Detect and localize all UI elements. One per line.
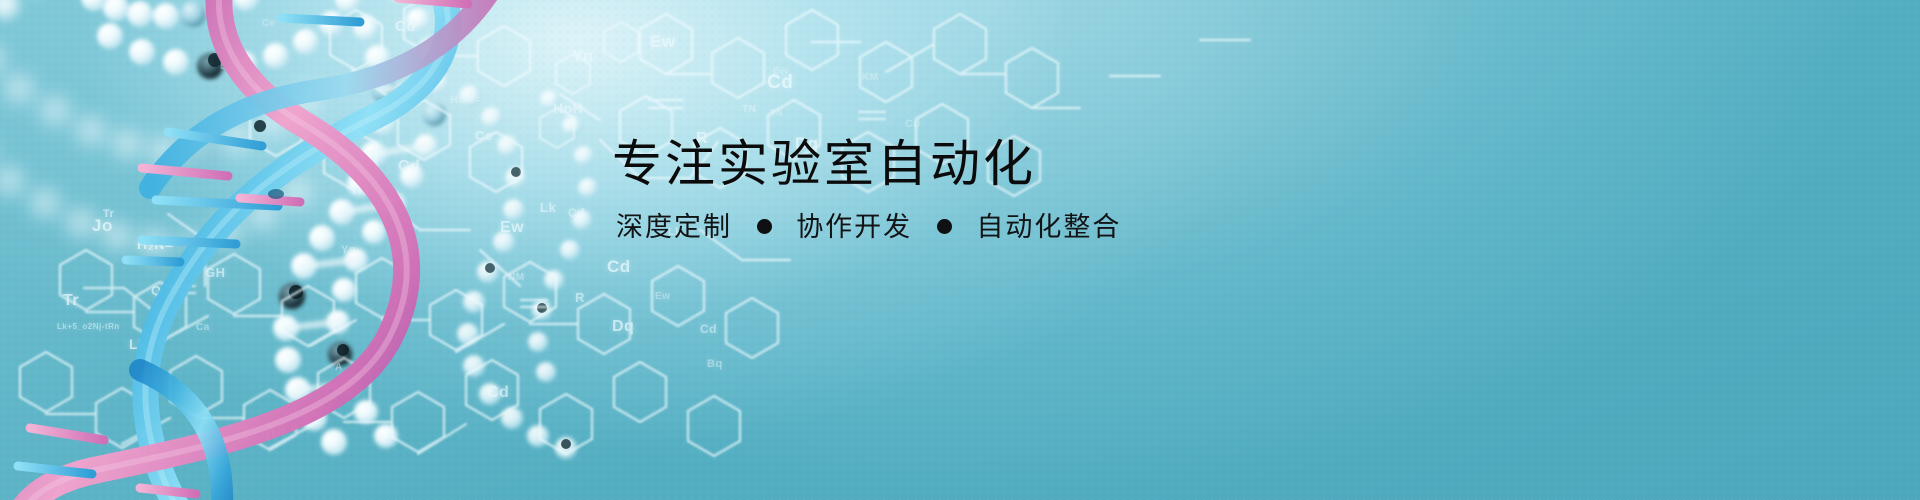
page-title: 专注实验室自动化 [612, 138, 1332, 191]
subtitle-item-3: 自动化整合 [976, 212, 1121, 243]
chem-formula-label: Cd [700, 322, 717, 336]
chem-formula-label: NM [508, 272, 525, 283]
chem-formula-label: Q [151, 283, 162, 298]
chem-formula-label: Bq [707, 358, 723, 370]
chem-formula-label: Cd [487, 384, 509, 402]
banner-copy: 专注实验室自动化 深度定制 协作开发 自动化整合 [612, 138, 1332, 243]
bullet-separator-icon [757, 219, 772, 234]
bullet-separator-icon [937, 219, 952, 234]
chem-formula-label: GH [205, 265, 226, 280]
chem-formula-label: Jo [92, 216, 113, 236]
chem-formula-label: Cd [905, 118, 921, 130]
chem-formula-label: Yn [350, 183, 366, 197]
chem-formula-label: Tr [103, 208, 114, 220]
chem-formula-label: Lk [220, 60, 234, 72]
chem-formula-label: Ew [773, 66, 788, 77]
chem-formula-label: Lk [129, 336, 146, 352]
ribbon-dna-graphic: 5MM [0, 0, 520, 500]
chem-formula-label: Ce [475, 128, 493, 143]
chem-formula-label: Ew [500, 219, 524, 237]
chem-formula-label: Cd [398, 158, 420, 176]
hero-banner: CdYnEwCdHoHRDqTNCeCdEwLkCdYnJoTrH₂N=GHQT… [0, 0, 1920, 500]
chem-formula-label: A [335, 362, 343, 373]
subtitle-item-2: 协作开发 [796, 212, 912, 243]
subtitle-item-1: 深度定制 [616, 212, 732, 243]
chem-formula-label: Cd [395, 18, 416, 35]
chem-formula-label: Dq [612, 318, 634, 336]
chem-formula-label: Yn [572, 48, 593, 66]
chem-formula-label: Lk+5_o2Nj-tRn [57, 322, 120, 331]
background-texture [0, 0, 1920, 500]
chem-formula-label: Ew [655, 291, 670, 302]
chem-formula-label: HoH [553, 100, 583, 116]
pearl-dna-helix-graphic [0, 0, 600, 500]
watermark-text: MM [265, 418, 314, 449]
chemical-structure-overlay: CdYnEwCdHoHRDqTNCeCdEwLkCdYnJoTrH₂N=GHQT… [0, 0, 1920, 500]
chem-formula-label: R [575, 290, 585, 305]
chem-formula-label: Ca [196, 322, 210, 333]
chem-formula-label: Tr [63, 292, 79, 310]
chem-formula-label: Lk [540, 200, 556, 215]
chem-formula-label: Cd [568, 206, 585, 220]
chem-formula-label: TN [770, 108, 783, 118]
chem-formula-label: Cd [767, 72, 793, 94]
chem-formula-label: Ce [262, 18, 276, 29]
watermark-text: 5 [255, 132, 275, 166]
chem-formula-label: H₂N= [137, 236, 174, 252]
secondary-pearl-cluster-graphic [430, 60, 760, 500]
chem-formula-label: TN [742, 104, 756, 115]
chem-formula-label: Yn [341, 244, 356, 256]
chem-formula-label: Cd [607, 257, 631, 277]
banner-subtitle: 深度定制 协作开发 自动化整合 [616, 213, 1332, 243]
chem-formula-label: HoH= [450, 94, 481, 106]
chem-formula-label: Ew [650, 32, 676, 52]
chem-formula-label: KM [862, 72, 879, 83]
